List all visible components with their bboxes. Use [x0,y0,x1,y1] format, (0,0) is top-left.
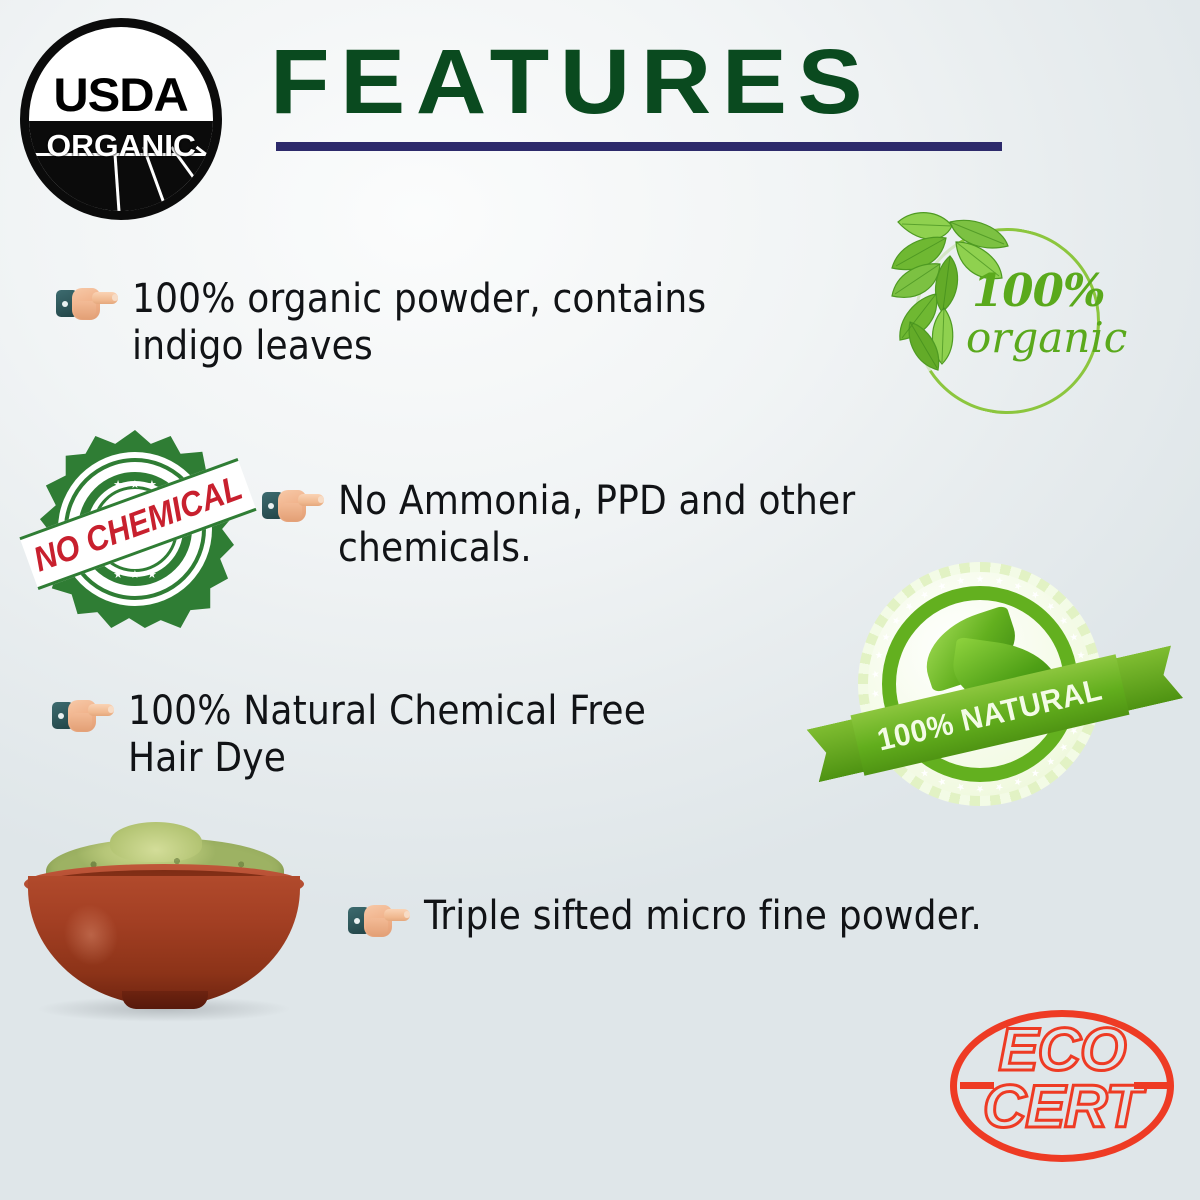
pointing-hand-icon [56,285,118,325]
feature-item-3: 100% Natural Chemical Free Hair Dye [52,688,842,782]
usda-seal-bottom: ORGANIC [20,121,222,211]
usda-organic-seal: USDA ORGANIC [20,18,222,220]
features-infographic: USDA ORGANIC FEATURES 100% organic powde… [0,0,1200,1200]
feature-text-1: 100% organic powder, contains indigo lea… [132,276,706,370]
feature-text-4: Triple sifted micro fine powder. [424,893,982,940]
page-title: FEATURES [270,36,1076,128]
ecocert-line-1: ECO [944,1022,1180,1077]
organic-badge-percent: 100% [972,268,1122,313]
bowl-foot [122,991,208,1009]
feature-text-2: No Ammonia, PPD and other chemicals. [338,478,855,572]
feature-text-3: 100% Natural Chemical Free Hair Dye [128,688,646,782]
ecocert-wordmark: ECO CERT [944,1022,1180,1134]
pointing-hand-icon [348,902,410,942]
organic-badge-text: 100% organic [972,268,1122,359]
usda-seal-top-text: USDA [54,71,188,121]
usda-seal-disc: USDA ORGANIC [20,18,222,220]
title-underline-rule [276,142,1002,151]
100-percent-natural-badge: 100% NATURAL [800,556,1180,818]
feature-item-4: Triple sifted micro fine powder. [348,893,1178,942]
bowl-of-green-powder [10,828,320,1036]
feature-item-1: 100% organic powder, contains indigo lea… [56,276,886,370]
no-chemical-stars-bottom: ★ ★ ★ [100,568,172,584]
no-chemical-stamp: ★ ★ ★ ★ ★ ★ NO CHEMICAL [30,428,244,630]
usda-seal-top: USDA [29,27,213,121]
bowl-body [28,876,300,1006]
usda-seal-band: ORGANIC [26,129,216,163]
ecocert-line-2: CERT [944,1079,1180,1134]
pointing-hand-icon [52,697,114,737]
page-title-block: FEATURES [270,36,1030,128]
organic-badge-word: organic [966,317,1122,359]
ecocert-logo: ECO CERT [944,1004,1180,1172]
pointing-hand-icon [262,487,324,527]
100-percent-organic-badge: 100% organic [880,212,1124,424]
usda-seal-bottom-text: ORGANIC [46,130,195,161]
